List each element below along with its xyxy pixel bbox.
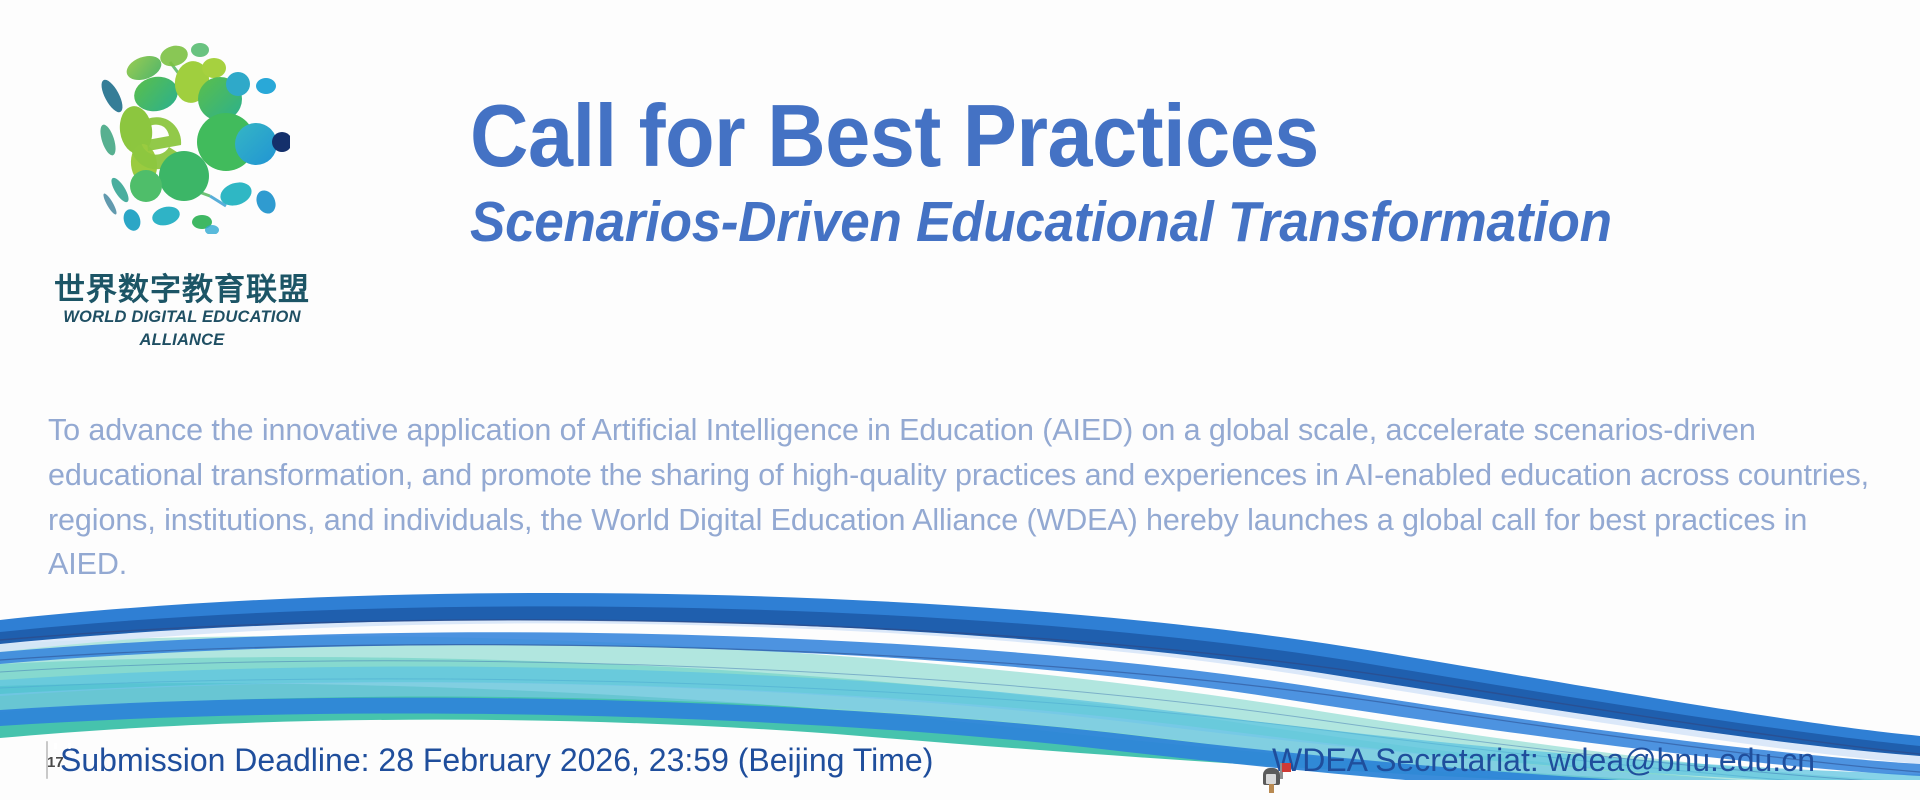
calendar-icon: 17 bbox=[46, 742, 48, 779]
logo-name-cn: 世界数字教育联盟 bbox=[42, 264, 322, 309]
page-title: Call for Best Practices bbox=[470, 92, 1684, 180]
poster-canvas: 世界数字教育联盟 WORLD DIGITAL EDUCATION ALLIANC… bbox=[0, 0, 1920, 800]
globe-network-e-icon bbox=[70, 24, 290, 234]
wdea-logo: 世界数字教育联盟 WORLD DIGITAL EDUCATION ALLIANC… bbox=[42, 24, 322, 324]
submission-deadline: 17 Submission Deadline: 28 February 2026… bbox=[46, 742, 933, 779]
deadline-label: Submission Deadline: 28 February 2026, 2… bbox=[60, 742, 933, 779]
header-titles: Call for Best Practices Scenarios-Driven… bbox=[470, 92, 1790, 251]
contact-label[interactable]: WDEA Secretariat: wdea@bnu.edu.cn bbox=[1272, 742, 1815, 779]
logo-name-en-line1: WORLD DIGITAL EDUCATION bbox=[42, 308, 322, 327]
page-subtitle: Scenarios-Driven Educational Transformat… bbox=[470, 194, 1698, 251]
secretariat-contact[interactable]: WDEA Secretariat: wdea@bnu.edu.cn bbox=[1260, 742, 1815, 779]
logo-name-en-line2: ALLIANCE bbox=[42, 331, 322, 350]
